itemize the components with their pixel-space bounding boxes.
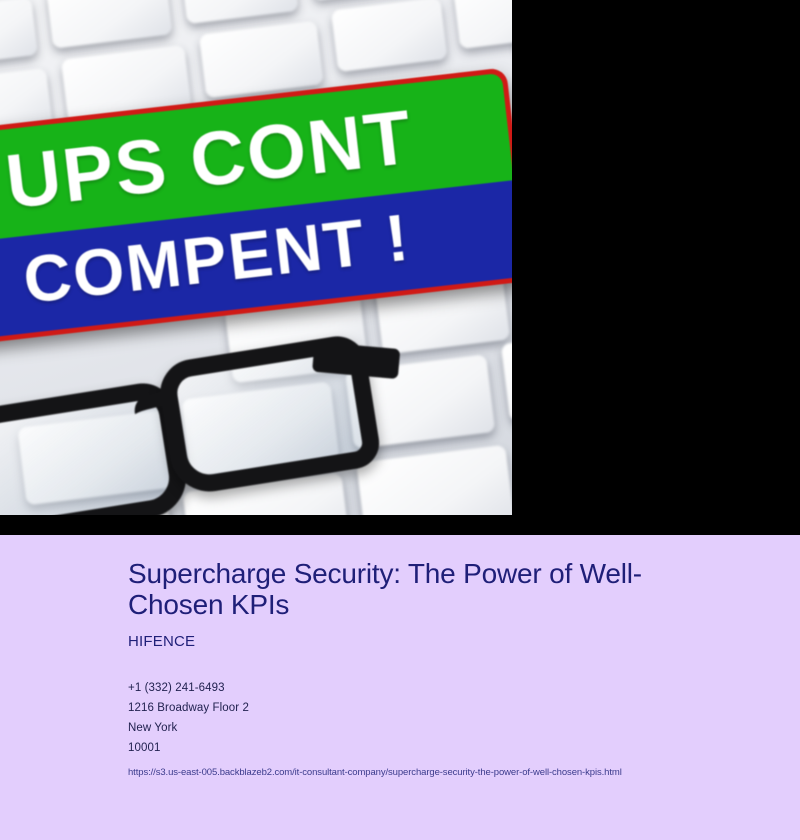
source-url-link[interactable]: https://s3.us-east-005.backblazeb2.com/i… [128, 766, 760, 780]
keyboard-key [306, 0, 416, 1]
contact-city: New York [128, 718, 760, 738]
keyboard-key [453, 0, 512, 49]
hero-image: UPS CONT COMPENT ! [0, 0, 512, 515]
page-title: Supercharge Security: The Power of Well-… [128, 558, 673, 620]
keyboard-key [0, 0, 38, 66]
keyboard-key [180, 0, 298, 24]
keyboard-key [46, 0, 172, 49]
keyboard-key [331, 0, 448, 72]
contact-zip: 10001 [128, 738, 760, 758]
keyboard-key [501, 329, 512, 422]
hero-band: UPS CONT COMPENT ! [0, 0, 800, 535]
info-panel: Supercharge Security: The Power of Well-… [0, 535, 800, 840]
contact-street: 1216 Broadway Floor 2 [128, 698, 760, 718]
info-content: Supercharge Security: The Power of Well-… [128, 558, 760, 780]
keyboard-key [199, 21, 324, 99]
page-root: UPS CONT COMPENT ! Supercharge Security:… [0, 0, 800, 840]
brand-name: HIFENCE [128, 633, 760, 650]
contact-block: +1 (332) 241-6493 1216 Broadway Floor 2 … [128, 678, 760, 758]
contact-phone: +1 (332) 241-6493 [128, 678, 760, 698]
